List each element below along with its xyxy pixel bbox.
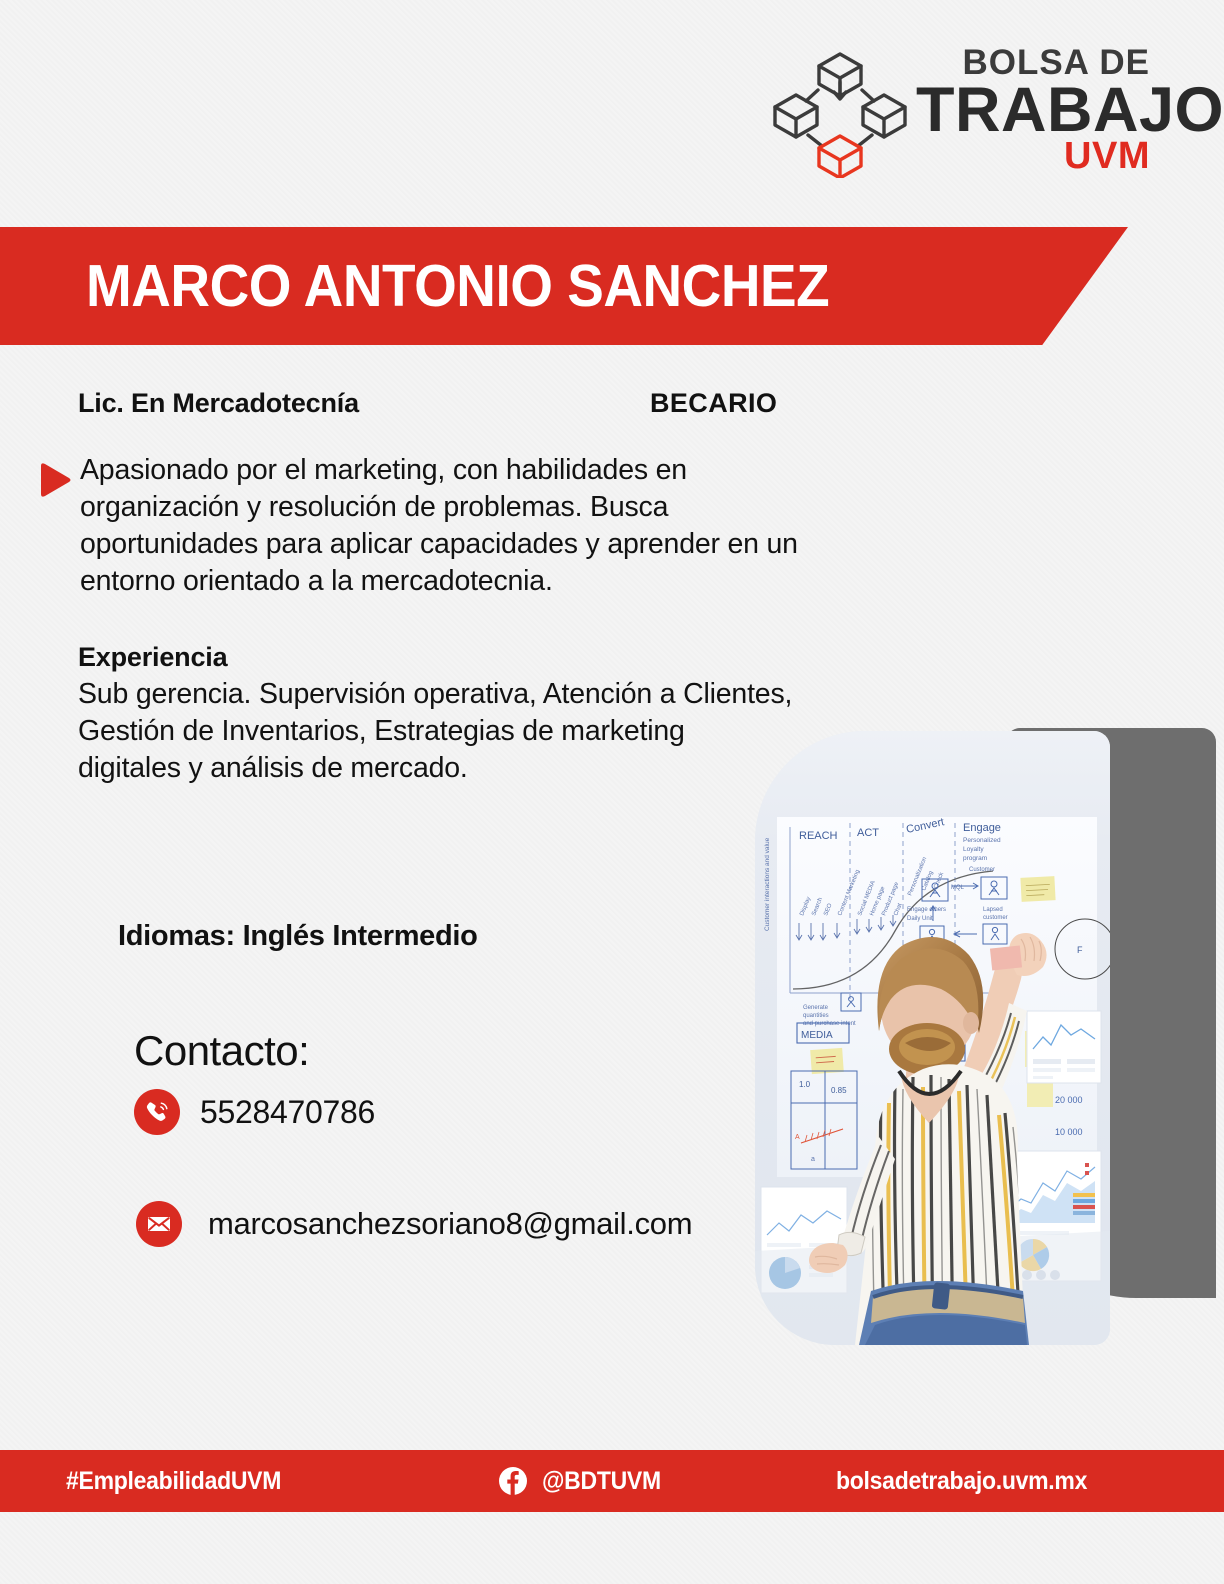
logo-line-trabajo: TRABAJO xyxy=(916,78,1150,142)
svg-text:Personalized: Personalized xyxy=(963,837,1001,844)
envelope-icon xyxy=(136,1201,182,1247)
svg-text:0.85: 0.85 xyxy=(831,1086,847,1095)
languages-line: Idiomas: Inglés Intermedio xyxy=(118,920,478,953)
svg-text:MQL: MQL xyxy=(951,885,965,891)
name-banner: MARCO ANTONIO SANCHEZ xyxy=(0,227,1128,345)
svg-text:Customer interactions and valu: Customer interactions and value xyxy=(764,837,771,931)
svg-text:F: F xyxy=(1077,945,1083,955)
svg-text:ACT: ACT xyxy=(857,827,879,839)
bolsa-de-trabajo-uvm-logo: BOLSA DE TRABAJO UVM xyxy=(770,40,1150,180)
svg-text:Engage others: Engage others xyxy=(907,907,946,913)
facebook-icon xyxy=(498,1466,528,1496)
contact-block: Contacto: 5528470786 marcosanchezsoriano… xyxy=(134,1025,774,1247)
candidate-photo: REACH ACT Convert Engage Personalized Lo… xyxy=(755,731,1110,1345)
contact-row-phone[interactable]: 5528470786 xyxy=(134,1089,774,1135)
svg-text:Loyalty: Loyalty xyxy=(963,846,984,853)
svg-text:Daily Unit: Daily Unit xyxy=(907,916,933,922)
footer-website[interactable]: bolsadetrabajo.uvm.mx xyxy=(836,1467,1087,1496)
logo-wordmark: BOLSA DE TRABAJO UVM xyxy=(916,44,1150,176)
resume-poster: BOLSA DE TRABAJO UVM MARCO ANTONIO SANCH… xyxy=(0,0,1224,1584)
svg-text:1.0: 1.0 xyxy=(799,1080,811,1089)
experience-heading: Experiencia xyxy=(78,640,1038,674)
photo-illustration: REACH ACT Convert Engage Personalized Lo… xyxy=(755,731,1110,1345)
contact-email-value: marcosanchezsoriano8@gmail.com xyxy=(208,1206,692,1242)
svg-text:Lapsed: Lapsed xyxy=(983,907,1003,913)
red-play-triangle-icon xyxy=(34,460,74,500)
summary-text: Apasionado por el marketing, con habilid… xyxy=(80,452,1024,600)
svg-text:20 000: 20 000 xyxy=(1055,1095,1083,1105)
footer-hashtag: #EmpleabilidadUVM xyxy=(66,1467,281,1496)
summary-block: Apasionado por el marketing, con habilid… xyxy=(34,452,1024,600)
degree-title: Lic. En Mercadotecnía xyxy=(78,388,359,419)
svg-text:10 000: 10 000 xyxy=(1055,1127,1083,1137)
svg-text:Generate: Generate xyxy=(803,1005,829,1011)
headline-row: Lic. En Mercadotecnía BECARIO xyxy=(78,388,978,422)
candidate-name: MARCO ANTONIO SANCHEZ xyxy=(86,252,829,320)
svg-text:program: program xyxy=(963,855,987,862)
svg-text:Engage: Engage xyxy=(963,822,1001,834)
contact-phone-value: 5528470786 xyxy=(200,1094,375,1131)
footer-social-handle: @BDTUVM xyxy=(542,1467,661,1496)
cube-network-icon xyxy=(770,48,910,178)
phone-icon xyxy=(134,1089,180,1135)
footer-social[interactable]: @BDTUVM xyxy=(498,1466,671,1496)
svg-text:quantities: quantities xyxy=(803,1013,829,1019)
svg-text:A: A xyxy=(795,1134,800,1141)
contact-heading: Contacto: xyxy=(134,1025,774,1077)
svg-text:MEDIA: MEDIA xyxy=(801,1030,833,1041)
svg-text:customer: customer xyxy=(983,915,1008,921)
role-badge: BECARIO xyxy=(650,388,777,419)
svg-text:REACH: REACH xyxy=(799,830,838,842)
svg-text:and purchase intent: and purchase intent xyxy=(803,1021,856,1027)
contact-row-email[interactable]: marcosanchezsoriano8@gmail.com xyxy=(136,1201,774,1247)
svg-text:Customer: Customer xyxy=(969,867,995,873)
svg-text:a: a xyxy=(811,1156,815,1163)
footer-bar: #EmpleabilidadUVM @BDTUVM bolsadetrabajo… xyxy=(0,1450,1224,1512)
